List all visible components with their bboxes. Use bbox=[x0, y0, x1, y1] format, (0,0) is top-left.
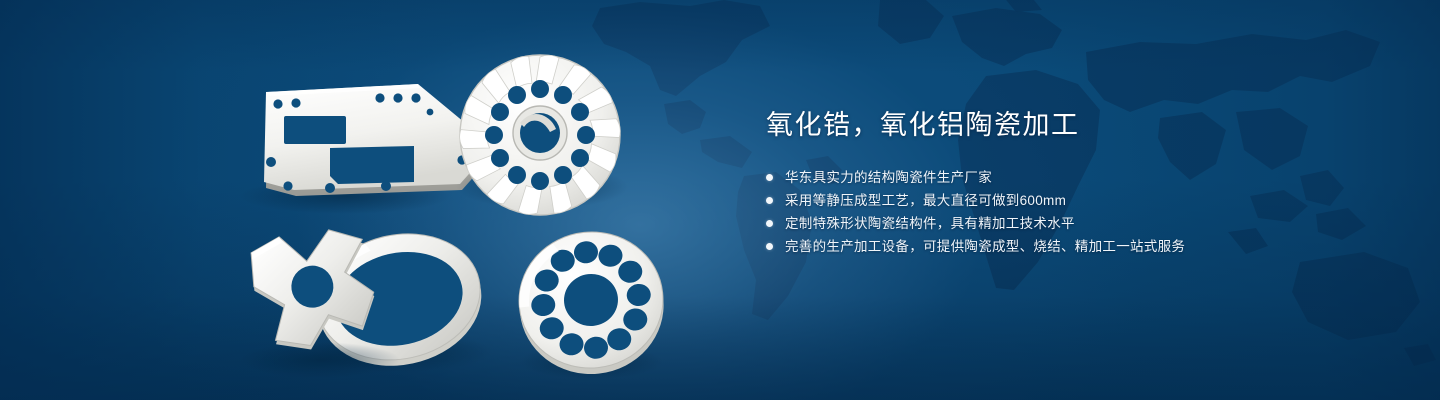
list-item-label: 采用等静压成型工艺，最大直径可做到600mm bbox=[785, 189, 1066, 212]
list-item: 完善的生产加工设备，可提供陶瓷成型、烧结、精加工一站式服务 bbox=[766, 235, 1386, 258]
list-item-label: 华东具实力的结构陶瓷件生产厂家 bbox=[785, 166, 992, 189]
bullet-dot-icon bbox=[766, 197, 773, 204]
list-item: 采用等静压成型工艺，最大直径可做到600mm bbox=[766, 189, 1386, 212]
ceramic-parts-artwork bbox=[0, 0, 720, 400]
ceramic-impeller-graphic bbox=[456, 54, 628, 216]
bullet-dot-icon bbox=[766, 174, 773, 181]
ceramic-plate-graphic bbox=[240, 84, 478, 214]
list-item-label: 完善的生产加工设备，可提供陶瓷成型、烧结、精加工一站式服务 bbox=[785, 235, 1185, 258]
bullet-dot-icon bbox=[766, 243, 773, 250]
list-item: 定制特殊形状陶瓷结构件，具有精加工技术水平 bbox=[766, 212, 1386, 235]
feature-list: 华东具实力的结构陶瓷件生产厂家 采用等静压成型工艺，最大直径可做到600mm 定… bbox=[766, 166, 1386, 258]
page-title: 氧化锆，氧化铝陶瓷加工 bbox=[766, 108, 1386, 142]
list-item: 华东具实力的结构陶瓷件生产厂家 bbox=[766, 166, 1386, 189]
bullet-dot-icon bbox=[766, 220, 773, 227]
list-item-label: 定制特殊形状陶瓷结构件，具有精加工技术水平 bbox=[785, 212, 1075, 235]
ceramic-perforated-disc-graphic bbox=[512, 225, 670, 381]
promo-banner: 氧化锆，氧化铝陶瓷加工 华东具实力的结构陶瓷件生产厂家 采用等静压成型工艺，最大… bbox=[0, 0, 1440, 400]
banner-content: 氧化锆，氧化铝陶瓷加工 华东具实力的结构陶瓷件生产厂家 采用等静压成型工艺，最大… bbox=[766, 108, 1386, 258]
